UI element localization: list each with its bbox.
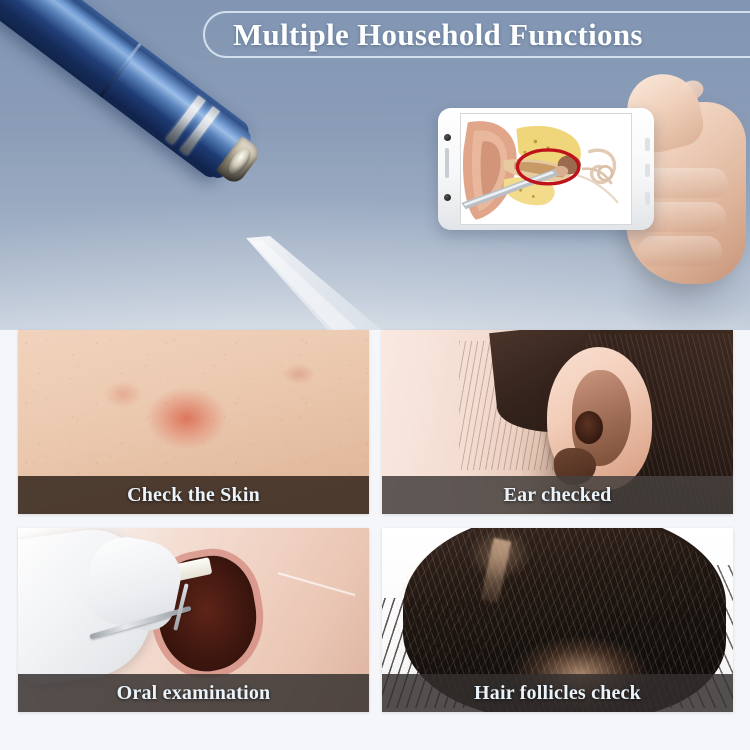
ear-anatomy-illustration	[461, 114, 631, 224]
tile-caption: Ear checked	[382, 476, 733, 514]
cable-thread	[278, 528, 355, 642]
hero-banner: Multiple Household Functions	[0, 0, 750, 330]
phone-screen[interactable]	[460, 113, 632, 225]
tile-caption: Oral examination	[18, 674, 369, 712]
earpiece-speaker-icon	[445, 148, 449, 178]
front-camera-icon	[444, 134, 451, 141]
side-button[interactable]	[645, 164, 650, 177]
thumbnail	[678, 78, 706, 102]
smartphone[interactable]	[438, 108, 654, 230]
title-pill: Multiple Household Functions	[203, 11, 750, 58]
feature-tile-grid: Check the Skin Ear checked	[0, 330, 750, 750]
tile-caption: Hair follicles check	[382, 674, 733, 712]
ear-canal	[575, 411, 603, 444]
page-title: Multiple Household Functions	[233, 17, 643, 53]
side-button[interactable]	[645, 192, 650, 205]
feature-tile-ear-checked[interactable]: Ear checked	[382, 330, 733, 514]
phone-in-hand-scene	[424, 78, 750, 330]
product-marketing-image: Multiple Household Functions	[0, 0, 750, 750]
sensor-icon	[444, 194, 451, 201]
side-button[interactable]	[645, 138, 650, 151]
feature-tile-oral-examination[interactable]: Oral examination	[18, 528, 369, 712]
tile-caption: Check the Skin	[18, 476, 369, 514]
finger-fold	[638, 236, 722, 266]
light-beam	[244, 236, 394, 330]
feature-tile-check-the-skin[interactable]: Check the Skin	[18, 330, 369, 514]
feature-tile-hair-follicles-check[interactable]: Hair follicles check	[382, 528, 733, 712]
